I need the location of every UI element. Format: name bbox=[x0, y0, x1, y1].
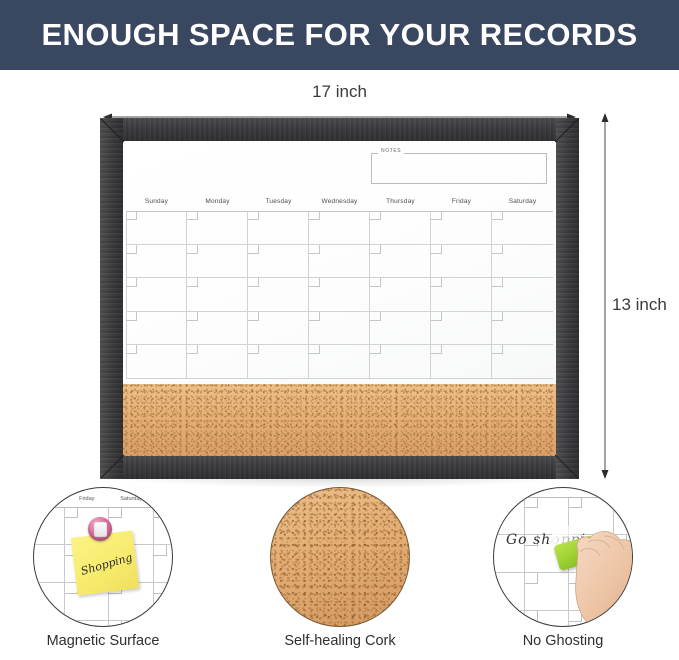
calendar-day-cell[interactable] bbox=[126, 312, 187, 346]
board-inner-surface: NOTES SundayMondayTuesdayWednesdayThursd… bbox=[123, 141, 556, 456]
day-number-box bbox=[187, 312, 198, 321]
mini-day-number-box bbox=[154, 545, 167, 556]
feature-no-ghosting: Thursday Go shopping No Ghosti bbox=[478, 487, 648, 649]
day-number-box bbox=[126, 245, 137, 254]
mini-calendar-cell bbox=[154, 507, 174, 545]
day-number-box bbox=[248, 345, 259, 354]
day-number-box bbox=[431, 345, 442, 354]
day-number-box bbox=[187, 245, 198, 254]
mini-day-number-box bbox=[154, 621, 167, 627]
day-number-box bbox=[431, 312, 442, 321]
day-number-box bbox=[309, 211, 320, 220]
magnet-icon[interactable] bbox=[88, 517, 112, 541]
calendar-day-cell[interactable] bbox=[370, 211, 431, 245]
frame-right-edge bbox=[556, 118, 579, 479]
mini-day-number-box bbox=[525, 573, 538, 584]
calendar-day-cell[interactable] bbox=[248, 211, 309, 245]
mini-calendar-cell bbox=[154, 621, 174, 627]
mini-calendar-cell bbox=[493, 497, 525, 535]
day-number-box bbox=[126, 278, 137, 287]
weekday-label: Friday bbox=[431, 198, 492, 211]
mini-calendar-cell bbox=[65, 621, 110, 627]
mini-weekday-spacer bbox=[154, 496, 174, 507]
weekday-label: Monday bbox=[187, 198, 248, 211]
calendar-grid bbox=[126, 211, 553, 379]
day-number-box bbox=[187, 345, 198, 354]
mini-day-number-box bbox=[65, 621, 78, 627]
calendar-day-cell[interactable] bbox=[126, 245, 187, 279]
calendar-day-cell[interactable] bbox=[187, 278, 248, 312]
sticky-note[interactable]: Shopping bbox=[71, 530, 140, 595]
hand-illustration bbox=[568, 516, 633, 627]
calendar-day-cell[interactable] bbox=[309, 278, 370, 312]
calendar-day-cell[interactable] bbox=[492, 345, 553, 379]
frame-left-edge bbox=[100, 118, 123, 479]
mini-calendar-cell bbox=[525, 573, 570, 611]
day-number-box bbox=[370, 245, 381, 254]
mini-weekday-label: Friday bbox=[65, 496, 110, 507]
mini-calendar-cell bbox=[493, 611, 525, 627]
mini-calendar-cell bbox=[33, 583, 65, 621]
day-number-box bbox=[370, 312, 381, 321]
calendar-day-cell[interactable] bbox=[492, 312, 553, 346]
mini-day-number-box bbox=[569, 497, 582, 508]
mini-day-number-box bbox=[65, 507, 78, 518]
day-number-box bbox=[248, 211, 259, 220]
day-number-box bbox=[492, 312, 503, 321]
mini-day-number-box bbox=[109, 507, 122, 518]
day-number-box bbox=[431, 245, 442, 254]
calendar-day-cell[interactable] bbox=[370, 345, 431, 379]
day-number-box bbox=[309, 345, 320, 354]
mini-weekday-spacer bbox=[569, 487, 614, 497]
calendar-day-cell[interactable] bbox=[492, 211, 553, 245]
day-number-box bbox=[309, 245, 320, 254]
calendar-day-cell[interactable] bbox=[309, 312, 370, 346]
feature-2-caption: Self-healing Cork bbox=[255, 633, 425, 649]
feature-2-circle bbox=[270, 487, 410, 627]
mini-day-number-box bbox=[614, 497, 627, 508]
calendar-day-cell[interactable] bbox=[187, 245, 248, 279]
height-dimension-arrow bbox=[600, 113, 610, 479]
calendar-day-cell[interactable] bbox=[370, 245, 431, 279]
calendar-day-cell[interactable] bbox=[431, 211, 492, 245]
mini-notes-box-1 bbox=[48, 487, 144, 496]
page-title: ENOUGH SPACE FOR YOUR RECORDS bbox=[41, 17, 637, 53]
feature-3-caption: No Ghosting bbox=[478, 633, 648, 649]
day-number-box bbox=[126, 345, 137, 354]
calendar-day-cell[interactable] bbox=[492, 245, 553, 279]
day-number-box bbox=[187, 278, 198, 287]
day-number-box bbox=[309, 278, 320, 287]
width-dimension-label: 17 inch bbox=[0, 82, 679, 102]
day-number-box bbox=[431, 278, 442, 287]
cork-board-strip bbox=[123, 384, 556, 456]
calendar-day-cell[interactable] bbox=[126, 278, 187, 312]
weekday-header-row: SundayMondayTuesdayWednesdayThursdayFrid… bbox=[126, 198, 553, 212]
day-number-box bbox=[492, 245, 503, 254]
header-banner: ENOUGH SPACE FOR YOUR RECORDS bbox=[0, 0, 679, 70]
mini-calendar-cell bbox=[109, 621, 154, 627]
dry-erase-calendar-surface: NOTES SundayMondayTuesdayWednesdayThursd… bbox=[123, 141, 556, 384]
calendar-day-cell[interactable] bbox=[492, 278, 553, 312]
calendar-board: NOTES SundayMondayTuesdayWednesdayThursd… bbox=[100, 118, 579, 479]
calendar-day-cell[interactable] bbox=[309, 245, 370, 279]
calendar-day-cell[interactable] bbox=[309, 345, 370, 379]
mini-weekday-label: Thursday bbox=[493, 487, 525, 497]
feature-magnetic-surface: ThursdayFridaySaturday Shopping Magnetic… bbox=[18, 487, 188, 649]
day-number-box bbox=[126, 312, 137, 321]
feature-1-caption: Magnetic Surface bbox=[18, 633, 188, 649]
calendar-day-cell[interactable] bbox=[248, 278, 309, 312]
notes-label: NOTES bbox=[378, 148, 404, 154]
day-number-box bbox=[492, 211, 503, 220]
day-number-box bbox=[248, 245, 259, 254]
weekday-label: Saturday bbox=[492, 198, 553, 211]
weekday-label: Tuesday bbox=[248, 198, 309, 211]
mini-calendar-cell bbox=[33, 545, 65, 583]
mini-weekday-spacer bbox=[525, 487, 570, 497]
calendar-day-cell[interactable] bbox=[431, 345, 492, 379]
mini-day-number-box bbox=[109, 621, 122, 627]
mini-calendar-cell bbox=[33, 621, 65, 627]
calendar-day-cell[interactable] bbox=[431, 245, 492, 279]
frame-bottom-edge bbox=[100, 456, 579, 479]
weekday-label: Thursday bbox=[370, 198, 431, 211]
mini-calendar-cell bbox=[525, 611, 570, 627]
calendar-day-cell[interactable] bbox=[187, 211, 248, 245]
day-number-box bbox=[431, 211, 442, 220]
feature-self-healing-cork: Self-healing Cork bbox=[255, 487, 425, 649]
height-dimension-label: 13 inch bbox=[612, 295, 667, 315]
calendar-day-cell[interactable] bbox=[187, 345, 248, 379]
day-number-box bbox=[248, 312, 259, 321]
mini-weekday-label: Thursday bbox=[33, 496, 65, 507]
calendar-day-cell[interactable] bbox=[431, 312, 492, 346]
day-number-box bbox=[492, 345, 503, 354]
day-number-box bbox=[248, 278, 259, 287]
day-number-box bbox=[492, 278, 503, 287]
day-number-box bbox=[370, 211, 381, 220]
calendar-day-cell[interactable] bbox=[248, 345, 309, 379]
weekday-label: Sunday bbox=[126, 198, 187, 211]
calendar-day-cell[interactable] bbox=[126, 211, 187, 245]
mini-day-number-box bbox=[154, 507, 167, 518]
mini-weekday-label: Saturday bbox=[109, 496, 154, 507]
calendar-day-cell[interactable] bbox=[126, 345, 187, 379]
mini-day-number-box bbox=[154, 583, 167, 594]
mini-day-number-box bbox=[525, 497, 538, 508]
day-number-box bbox=[126, 211, 137, 220]
calendar-day-cell[interactable] bbox=[370, 278, 431, 312]
mini-calendar-cell bbox=[33, 507, 65, 545]
day-number-box bbox=[309, 312, 320, 321]
calendar-day-cell[interactable] bbox=[370, 312, 431, 346]
notes-box: NOTES bbox=[371, 153, 547, 184]
mini-weekday-spacer bbox=[614, 487, 634, 497]
calendar-day-cell[interactable] bbox=[248, 312, 309, 346]
day-number-box bbox=[187, 211, 198, 220]
calendar-day-cell[interactable] bbox=[187, 312, 248, 346]
mini-calendar-cell bbox=[154, 583, 174, 621]
mini-calendar-cell bbox=[154, 545, 174, 583]
mini-day-number-box bbox=[525, 611, 538, 622]
magnet-inner-detail bbox=[94, 522, 107, 537]
calendar-day-cell[interactable] bbox=[248, 245, 309, 279]
frame-top-edge bbox=[100, 118, 579, 141]
weekday-label: Wednesday bbox=[309, 198, 370, 211]
day-number-box bbox=[370, 278, 381, 287]
day-number-box bbox=[370, 345, 381, 354]
calendar-day-cell[interactable] bbox=[309, 211, 370, 245]
sticky-note-text: Shopping bbox=[79, 551, 134, 578]
calendar-day-cell[interactable] bbox=[431, 278, 492, 312]
feature-3-circle: Thursday Go shopping bbox=[493, 487, 633, 627]
mini-calendar-cell bbox=[493, 573, 525, 611]
feature-1-circle: ThursdayFridaySaturday Shopping bbox=[33, 487, 173, 627]
